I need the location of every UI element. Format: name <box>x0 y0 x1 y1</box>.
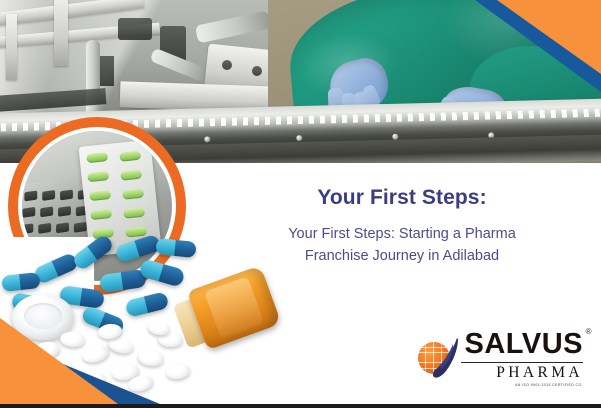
subtitle-line-2: Franchise Journey in Adilabad <box>305 248 499 264</box>
sub-brand-name: PHARMA <box>461 365 583 381</box>
logo-divider <box>461 362 583 363</box>
capsule <box>114 234 161 264</box>
subtitle-line-1: Your First Steps: Starting a Pharma <box>288 226 516 242</box>
brand-text: SALVUS <box>465 328 583 360</box>
globe-icon <box>417 336 457 376</box>
brand-name: SALVUS® <box>465 330 583 359</box>
capsule <box>1 272 40 292</box>
capsule <box>155 238 196 258</box>
capsule <box>125 291 170 318</box>
corner-accent-orange-bottom-left <box>0 318 118 404</box>
registered-trademark-icon: ® <box>586 328 592 336</box>
capsule <box>138 258 185 287</box>
capsule <box>71 233 115 271</box>
corner-accent-orange-top-right <box>497 0 601 74</box>
logo-wordmark: SALVUS® PHARMA AN ISO 9001:2015 CERTIFIE… <box>461 330 583 387</box>
salvus-pharma-logo: SALVUS® PHARMA AN ISO 9001:2015 CERTIFIE… <box>417 330 583 392</box>
page-subtitle: Your First Steps: Starting a Pharma Fran… <box>228 224 576 268</box>
marketing-banner: Your First Steps: Your First Steps: Star… <box>0 0 601 408</box>
page-title: Your First Steps: <box>228 186 576 210</box>
headline-block: Your First Steps: Your First Steps: Star… <box>228 186 576 268</box>
swoosh-icon <box>431 336 459 380</box>
tablet <box>165 362 191 380</box>
certification-text: AN ISO 9001:2015 CERTIFIED CO. <box>461 384 583 388</box>
